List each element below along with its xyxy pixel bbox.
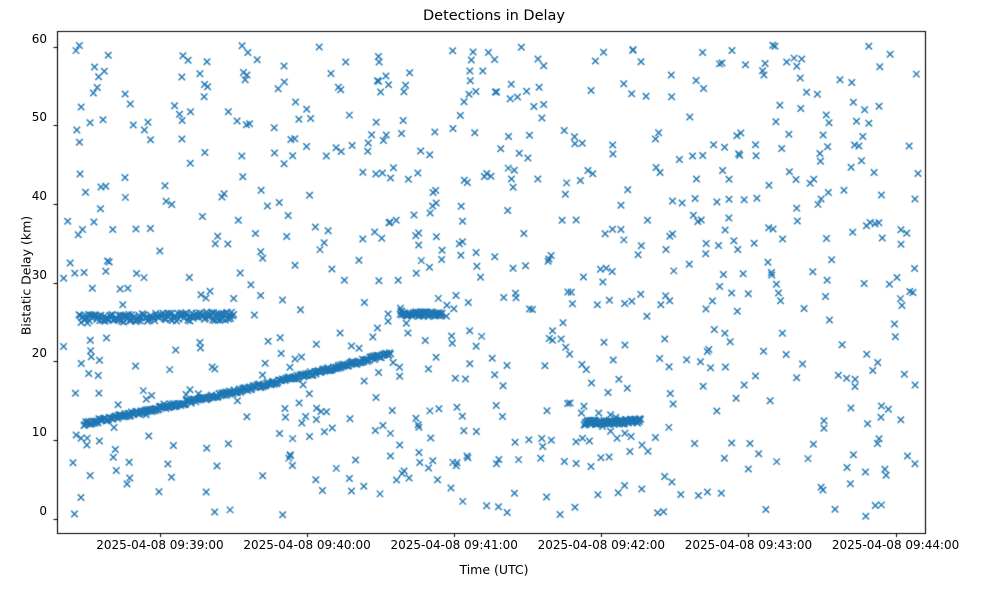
scatter-plot-canvas [0, 0, 988, 590]
y-tick-label: 10 [0, 425, 47, 439]
y-tick-label: 30 [0, 268, 47, 282]
matplotlib-figure: Detections in Delay Time (UTC) Bistatic … [0, 0, 988, 590]
x-tick-label: 2025-04-08 09:41:00 [390, 538, 517, 552]
x-tick-label: 2025-04-08 09:39:00 [96, 538, 223, 552]
x-tick-label: 2025-04-08 09:40:00 [243, 538, 370, 552]
page-title: Detections in Delay [0, 8, 988, 24]
y-tick-label: 0 [0, 504, 47, 518]
x-tick-label: 2025-04-08 09:42:00 [538, 538, 665, 552]
y-tick-label: 50 [0, 110, 47, 124]
x-axis-label: Time (UTC) [0, 562, 988, 577]
y-tick-label: 20 [0, 346, 47, 360]
y-tick-label: 60 [0, 32, 47, 46]
y-tick-label: 40 [0, 189, 47, 203]
x-tick-label: 2025-04-08 09:43:00 [685, 538, 812, 552]
x-tick-label: 2025-04-08 09:44:00 [832, 538, 959, 552]
